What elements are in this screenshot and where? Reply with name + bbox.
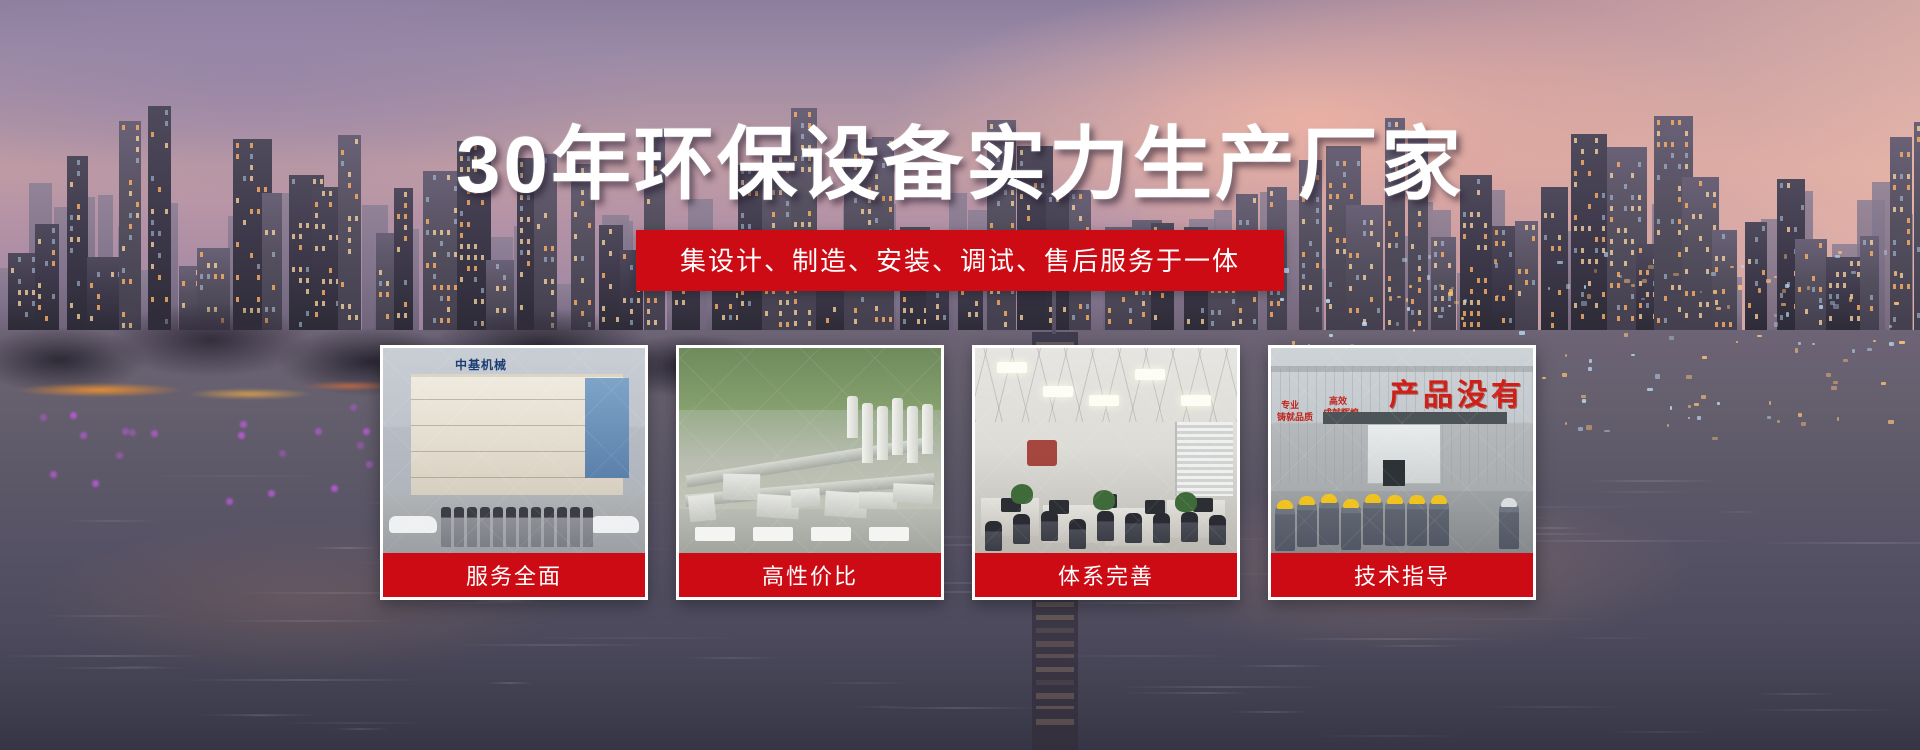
card-photo-factory-aerial	[679, 348, 941, 553]
feature-card-guidance[interactable]: 产品没有 专业 铸就品质 高效 成就辉煌 技术指导	[1268, 345, 1536, 600]
feature-card-system[interactable]: 体系完善	[972, 345, 1240, 600]
card-label-system: 体系完善	[975, 553, 1237, 597]
factory-slogan-left-2: 铸就品质	[1277, 412, 1313, 423]
feature-card-row: 中基机械 服务全面	[380, 345, 1550, 600]
card-photo-workshop-exterior: 产品没有 专业 铸就品质 高效 成就辉煌	[1271, 348, 1533, 553]
banner-headline: 30年环保设备实力生产厂家	[0, 100, 1920, 216]
card-label-value: 高性价比	[679, 553, 941, 597]
feature-card-service[interactable]: 中基机械 服务全面	[380, 345, 648, 600]
company-signage: 中基机械	[455, 356, 507, 373]
banner-subtitle: 集设计、制造、安装、调试、售后服务于一体	[636, 230, 1284, 291]
factory-slogan-left-1: 专业	[1281, 400, 1299, 411]
card-photo-office-interior	[975, 348, 1237, 553]
banner-subtitle-container: 集设计、制造、安装、调试、售后服务于一体	[0, 230, 1920, 291]
factory-slogan-left-3: 高效	[1329, 396, 1347, 407]
card-photo-office-building: 中基机械	[383, 348, 645, 553]
card-label-service: 服务全面	[383, 553, 645, 597]
feature-card-value[interactable]: 高性价比	[676, 345, 944, 600]
card-label-guidance: 技术指导	[1271, 553, 1533, 597]
factory-slogan: 产品没有	[1389, 370, 1525, 414]
hero-banner: 30年环保设备实力生产厂家 集设计、制造、安装、调试、售后服务于一体 中基机械	[0, 0, 1920, 750]
